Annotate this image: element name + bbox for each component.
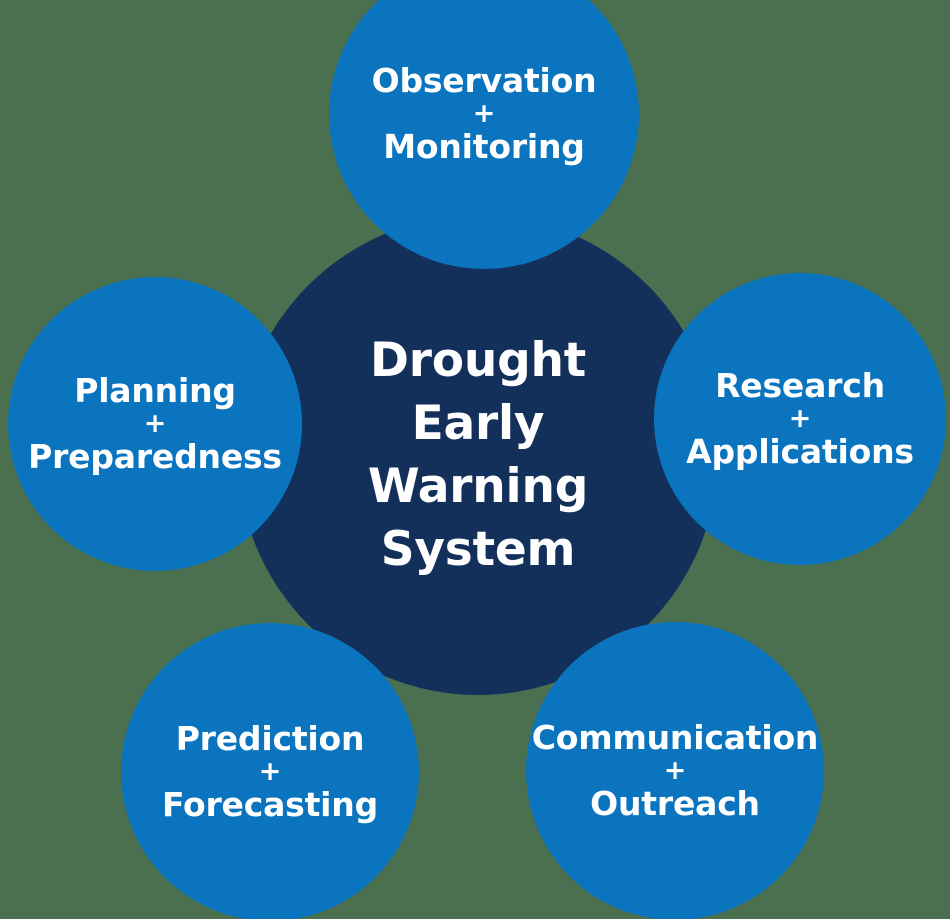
diagram-canvas: Drought Early Warning System Observation… xyxy=(0,0,950,919)
diagram-shapes xyxy=(0,0,950,919)
spoke-circle-prediction-forecasting[interactable] xyxy=(121,623,419,919)
spoke-circle-research-applications[interactable] xyxy=(654,273,946,565)
hub-circle[interactable] xyxy=(238,215,718,695)
spoke-circle-planning-preparedness[interactable] xyxy=(8,277,302,571)
spoke-circle-communication-outreach[interactable] xyxy=(526,622,824,919)
